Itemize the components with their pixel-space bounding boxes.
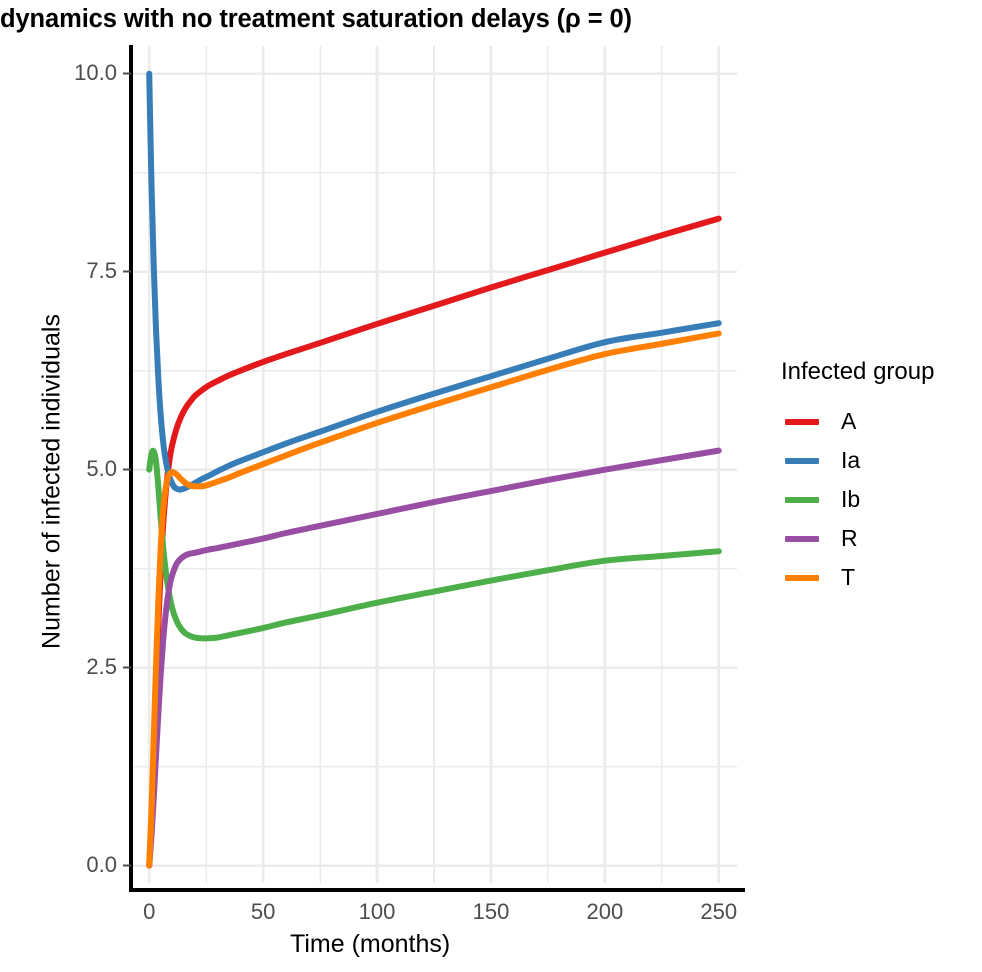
legend: Infected group AIaIbRT: [781, 358, 981, 597]
legend-item-Ia[interactable]: Ia: [781, 441, 981, 480]
y-axis-title: Number of infected individuals: [38, 267, 67, 697]
x-tick-label-250: 250: [679, 899, 759, 925]
legend-label-A: A: [841, 408, 856, 435]
legend-item-R[interactable]: R: [781, 519, 981, 558]
legend-items: AIaIbRT: [781, 402, 981, 597]
x-tick-label-200: 200: [565, 899, 645, 925]
legend-swatch-Ib: [785, 497, 819, 503]
legend-swatch-R: [785, 536, 819, 542]
legend-swatch-Ia: [785, 458, 819, 464]
x-axis-title: Time (months): [290, 930, 450, 959]
legend-key-R: [781, 519, 823, 558]
legend-key-Ia: [781, 441, 823, 480]
y-tick-label-0.0: 0.0: [27, 852, 117, 878]
legend-swatch-T: [785, 575, 819, 581]
legend-title: Infected group: [781, 358, 981, 386]
x-tick-label-150: 150: [451, 899, 531, 925]
legend-key-A: [781, 402, 823, 441]
legend-label-T: T: [841, 564, 855, 591]
legend-key-T: [781, 558, 823, 597]
legend-item-Ib[interactable]: Ib: [781, 480, 981, 519]
legend-label-R: R: [841, 525, 858, 552]
legend-label-Ia: Ia: [841, 447, 860, 474]
legend-item-T[interactable]: T: [781, 558, 981, 597]
x-tick-label-0: 0: [109, 899, 189, 925]
x-tick-label-100: 100: [337, 899, 417, 925]
legend-swatch-A: [785, 419, 819, 425]
y-tick-label-10.0: 10.0: [27, 60, 117, 86]
legend-item-A[interactable]: A: [781, 402, 981, 441]
legend-label-Ib: Ib: [841, 486, 860, 513]
x-tick-label-50: 50: [223, 899, 303, 925]
legend-key-Ib: [781, 480, 823, 519]
chart-figure: dynamics with no treatment saturation de…: [0, 0, 982, 972]
